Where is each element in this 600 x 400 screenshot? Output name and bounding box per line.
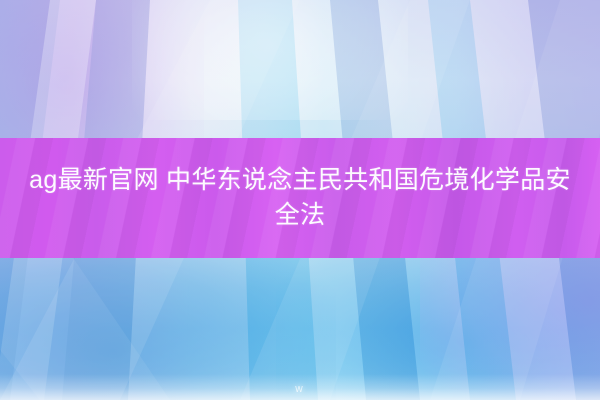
- banner-image: ᵂ ag最新官网 中华东说念主民共和国危境化学品安全法: [0, 0, 600, 400]
- banner-headline: ag最新官网 中华东说念主民共和国危境化学品安全法: [20, 163, 580, 234]
- watermark-text: ᵂ: [295, 384, 304, 398]
- headline-banner: ag最新官网 中华东说念主民共和国危境化学品安全法: [0, 138, 600, 258]
